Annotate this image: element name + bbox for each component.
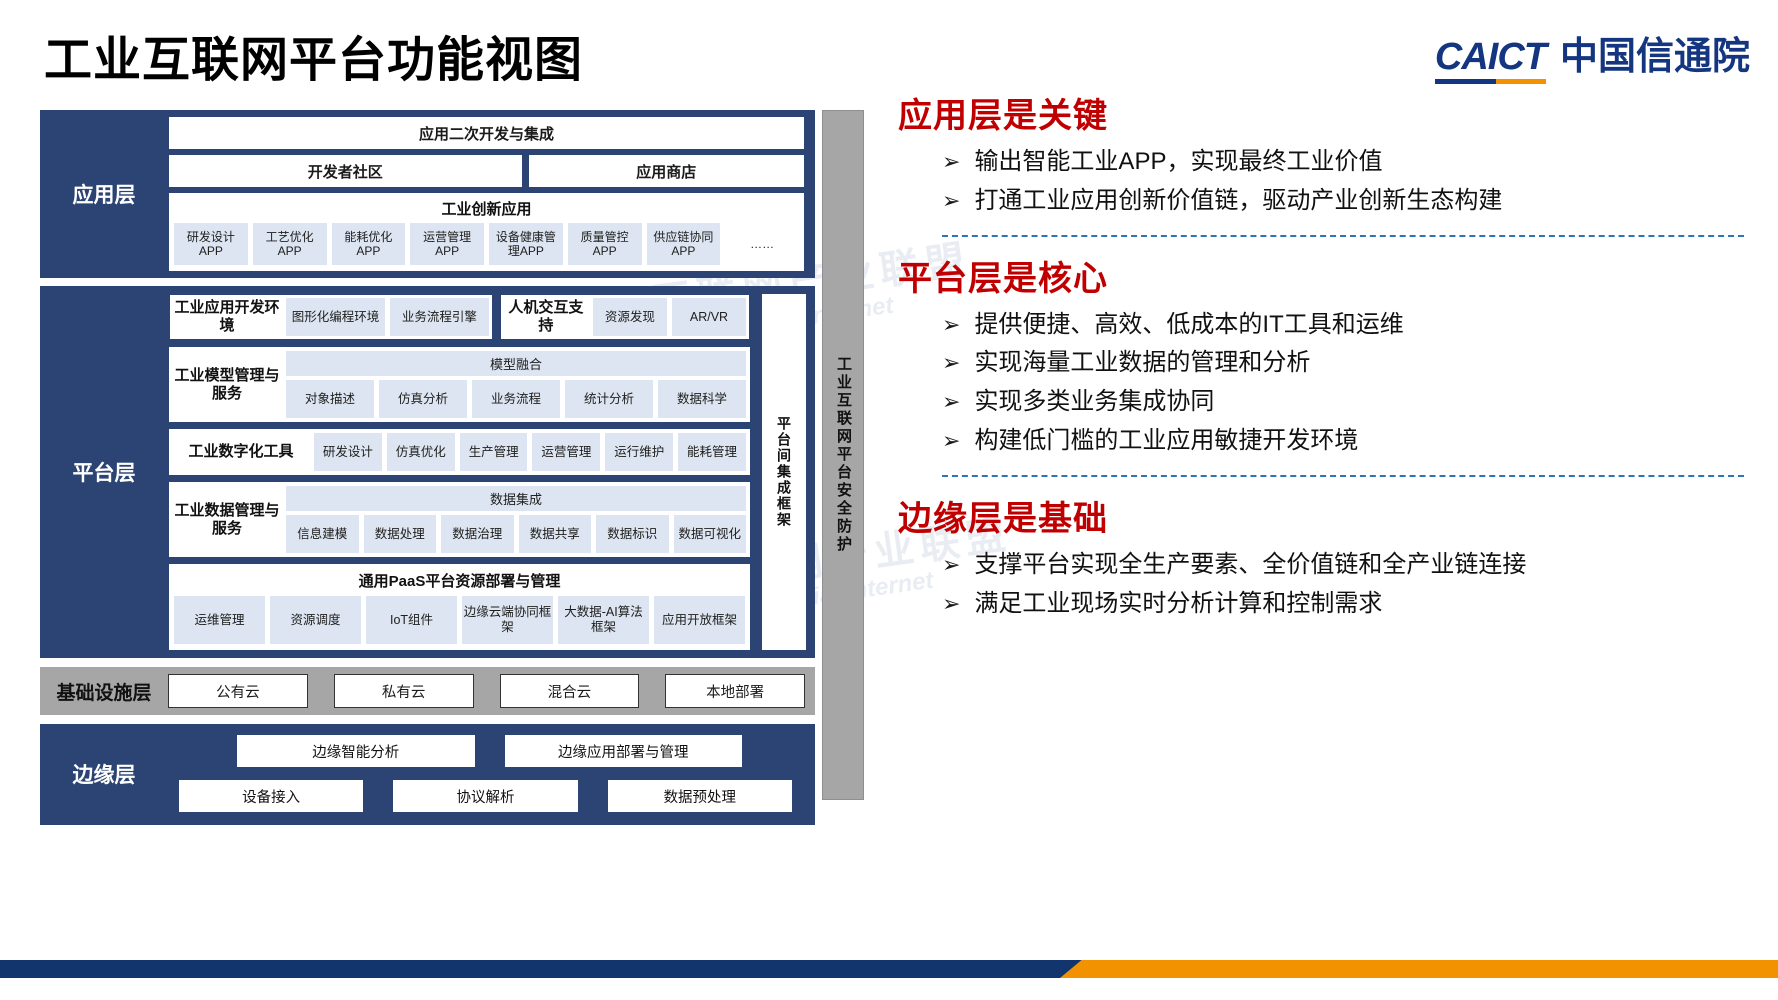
platform-row-data-management: 工业数据管理与服务 数据集成 信息建模 数据处理 数据治理 数据共享 数据标识 … bbox=[168, 481, 751, 558]
bullet-item: ➢ 打通工业应用创新价值链，驱动产业创新生态构建 bbox=[896, 184, 1744, 219]
bullet-list-application: ➢ 输出智能工业APP，实现最终工业价值 ➢ 打通工业应用创新价值链，驱动产业创… bbox=[896, 145, 1744, 219]
platform-cell[interactable]: 业务流程 bbox=[472, 380, 560, 418]
bullet-arrow-icon: ➢ bbox=[942, 424, 960, 457]
platform-cell[interactable]: 运行维护 bbox=[605, 433, 673, 471]
application-layer: 应用层 应用二次开发与集成 开发者社区 应用商店 工业创新应用 研发设计APP … bbox=[40, 110, 815, 278]
platform-cell[interactable]: AR/VR bbox=[672, 298, 746, 336]
app-secondary-dev-box[interactable]: 应用二次开发与集成 bbox=[168, 116, 805, 150]
page-title: 工业互联网平台功能视图 bbox=[44, 20, 583, 90]
application-layer-label: 应用层 bbox=[40, 110, 168, 278]
section-title-platform: 平台层是核心 bbox=[898, 251, 1744, 300]
caict-logo-mark: CAICT bbox=[1435, 38, 1546, 84]
paas-cell[interactable]: 运维管理 bbox=[174, 596, 265, 644]
platform-cell[interactable]: 业务流程引擎 bbox=[390, 298, 489, 336]
bullet-item: ➢ 实现海量工业数据的管理和分析 bbox=[896, 346, 1744, 381]
paas-box: 通用PaaS平台资源部署与管理 运维管理 资源调度 IoT组件 边缘云端协同框架… bbox=[168, 563, 751, 651]
app-tile[interactable]: 研发设计APP bbox=[174, 223, 248, 265]
infrastructure-cell[interactable]: 本地部署 bbox=[665, 674, 805, 708]
bullet-arrow-icon: ➢ bbox=[942, 145, 960, 178]
platform-row-model-management: 工业模型管理与服务 模型融合 对象描述 仿真分析 业务流程 统计分析 数据科学 bbox=[168, 346, 751, 423]
infrastructure-layer-label: 基础设施层 bbox=[40, 678, 168, 705]
footer-white-strip bbox=[0, 978, 1778, 1000]
bullet-text: 构建低门槛的工业应用敏捷开发环境 bbox=[974, 424, 1744, 459]
platform-cell[interactable]: 信息建模 bbox=[286, 515, 359, 553]
edge-cell[interactable]: 数据预处理 bbox=[607, 779, 793, 813]
platform-cell[interactable]: 仿真优化 bbox=[387, 433, 455, 471]
model-management-title: 工业模型管理与服务 bbox=[173, 351, 281, 418]
hmi-support-title: 人机交互支持 bbox=[504, 298, 588, 336]
section-title-edge: 边缘层是基础 bbox=[898, 491, 1744, 540]
bullet-text: 支撑平台实现全生产要素、全价值链和全产业链连接 bbox=[974, 548, 1744, 583]
footer-bar-orange bbox=[1060, 960, 1778, 978]
model-fusion-head[interactable]: 模型融合 bbox=[286, 351, 746, 376]
bullet-text: 实现多类业务集成协同 bbox=[974, 385, 1744, 420]
bullet-arrow-icon: ➢ bbox=[942, 587, 960, 620]
bullet-item: ➢ 实现多类业务集成协同 bbox=[896, 385, 1744, 420]
bullet-arrow-icon: ➢ bbox=[942, 346, 960, 379]
paas-cell[interactable]: 边缘云端协同框架 bbox=[462, 596, 553, 644]
platform-cell[interactable]: 数据标识 bbox=[596, 515, 669, 553]
app-tile-ellipsis: …… bbox=[725, 223, 799, 265]
data-integration-head[interactable]: 数据集成 bbox=[286, 486, 746, 511]
platform-cell[interactable]: 研发设计 bbox=[314, 433, 382, 471]
section-divider bbox=[942, 475, 1744, 477]
platform-row-digital-tools: 工业数字化工具 研发设计 仿真优化 生产管理 运营管理 运行维护 能耗管理 bbox=[168, 428, 751, 476]
platform-row-dev-hmi: 工业应用开发环境 图形化编程环境 业务流程引擎 人机交互支持 资源发现 AR/V… bbox=[168, 293, 751, 341]
bullet-arrow-icon: ➢ bbox=[942, 548, 960, 581]
industrial-innovation-app-box: 工业创新应用 研发设计APP 工艺优化APP 能耗优化APP 运营管理APP 设… bbox=[168, 192, 805, 272]
platform-cell[interactable]: 图形化编程环境 bbox=[286, 298, 385, 336]
digital-tools-title: 工业数字化工具 bbox=[173, 433, 309, 471]
edge-cell[interactable]: 边缘应用部署与管理 bbox=[504, 734, 744, 768]
app-tile[interactable]: 质量管控APP bbox=[568, 223, 642, 265]
data-management-title: 工业数据管理与服务 bbox=[173, 486, 281, 553]
section-divider bbox=[942, 235, 1744, 237]
bullet-item: ➢ 支撑平台实现全生产要素、全价值链和全产业链连接 bbox=[896, 548, 1744, 583]
security-protection-bar: 工业互联网平台安全防护 bbox=[822, 110, 864, 800]
edge-layer-label: 边缘层 bbox=[40, 759, 168, 789]
platform-cell[interactable]: 数据治理 bbox=[441, 515, 514, 553]
platform-layer: 平台层 工业应用开发环境 图形化编程环境 业务流程引擎 人机交互支持 资源发现 … bbox=[40, 286, 815, 658]
bullet-text: 提供便捷、高效、低成本的IT工具和运维 bbox=[974, 308, 1744, 343]
platform-cell[interactable]: 运营管理 bbox=[532, 433, 600, 471]
paas-cell[interactable]: 资源调度 bbox=[270, 596, 361, 644]
edge-cell[interactable]: 边缘智能分析 bbox=[236, 734, 476, 768]
bullet-item: ➢ 构建低门槛的工业应用敏捷开发环境 bbox=[896, 424, 1744, 459]
bullet-arrow-icon: ➢ bbox=[942, 308, 960, 341]
caict-logo-name: 中国信通院 bbox=[1560, 38, 1750, 84]
bullet-item: ➢ 提供便捷、高效、低成本的IT工具和运维 bbox=[896, 308, 1744, 343]
app-tile[interactable]: 供应链协同APP bbox=[647, 223, 721, 265]
inter-platform-integration-framework-label: 平台间集成框架 bbox=[761, 293, 807, 651]
edge-cell[interactable]: 设备接入 bbox=[178, 779, 364, 813]
industrial-innovation-app-title: 工业创新应用 bbox=[174, 198, 799, 219]
platform-cell[interactable]: 生产管理 bbox=[460, 433, 528, 471]
caict-logo: CAICT 中国信通院 bbox=[1435, 38, 1750, 84]
platform-cell[interactable]: 统计分析 bbox=[565, 380, 653, 418]
bullet-text: 输出智能工业APP，实现最终工业价值 bbox=[974, 145, 1744, 180]
bullet-text: 实现海量工业数据的管理和分析 bbox=[974, 346, 1744, 381]
platform-cell[interactable]: 对象描述 bbox=[286, 380, 374, 418]
bullet-item: ➢ 输出智能工业APP，实现最终工业价值 bbox=[896, 145, 1744, 180]
bullet-text: 打通工业应用创新价值链，驱动产业创新生态构建 bbox=[974, 184, 1744, 219]
paas-cell[interactable]: 应用开放框架 bbox=[654, 596, 745, 644]
platform-function-diagram: 应用层 应用二次开发与集成 开发者社区 应用商店 工业创新应用 研发设计APP … bbox=[40, 110, 815, 825]
platform-cell[interactable]: 数据共享 bbox=[519, 515, 592, 553]
section-title-application: 应用层是关键 bbox=[898, 88, 1744, 137]
platform-layer-label: 平台层 bbox=[40, 286, 168, 658]
footer-bar-blue bbox=[0, 960, 1100, 978]
app-tile[interactable]: 工艺优化APP bbox=[253, 223, 327, 265]
bullet-list-edge: ➢ 支撑平台实现全生产要素、全价值链和全产业链连接 ➢ 满足工业现场实时分析计算… bbox=[896, 548, 1744, 622]
paas-cell[interactable]: IoT组件 bbox=[366, 596, 457, 644]
platform-cell[interactable]: 数据处理 bbox=[364, 515, 437, 553]
app-tile[interactable]: 运营管理APP bbox=[410, 223, 484, 265]
app-tile[interactable]: 设备健康管理APP bbox=[489, 223, 563, 265]
platform-cell[interactable]: 能耗管理 bbox=[678, 433, 746, 471]
platform-cell[interactable]: 数据可视化 bbox=[674, 515, 747, 553]
explanation-panel: 应用层是关键 ➢ 输出智能工业APP，实现最终工业价值 ➢ 打通工业应用创新价值… bbox=[896, 88, 1744, 627]
bullet-item: ➢ 满足工业现场实时分析计算和控制需求 bbox=[896, 587, 1744, 622]
infrastructure-cell[interactable]: 公有云 bbox=[168, 674, 308, 708]
paas-cell[interactable]: 大数据-AI算法框架 bbox=[558, 596, 649, 644]
paas-title: 通用PaaS平台资源部署与管理 bbox=[174, 570, 745, 591]
bullet-arrow-icon: ➢ bbox=[942, 385, 960, 418]
infrastructure-cell[interactable]: 私有云 bbox=[334, 674, 474, 708]
infrastructure-cell[interactable]: 混合云 bbox=[500, 674, 640, 708]
edge-cell[interactable]: 协议解析 bbox=[392, 779, 578, 813]
platform-cell[interactable]: 资源发现 bbox=[593, 298, 667, 336]
bullet-arrow-icon: ➢ bbox=[942, 184, 960, 217]
infrastructure-layer: 基础设施层 公有云 私有云 混合云 本地部署 bbox=[40, 667, 815, 715]
app-store-box[interactable]: 应用商店 bbox=[528, 154, 805, 188]
app-tile[interactable]: 能耗优化APP bbox=[332, 223, 406, 265]
bullet-list-platform: ➢ 提供便捷、高效、低成本的IT工具和运维 ➢ 实现海量工业数据的管理和分析 ➢… bbox=[896, 308, 1744, 459]
edge-layer: 边缘层 边缘智能分析 边缘应用部署与管理 设备接入 协议解析 数据预处理 bbox=[40, 724, 815, 825]
industrial-app-dev-env-title: 工业应用开发环境 bbox=[173, 298, 281, 336]
developer-community-box[interactable]: 开发者社区 bbox=[168, 154, 523, 188]
footer-accent-bar bbox=[0, 960, 1778, 978]
platform-cell[interactable]: 仿真分析 bbox=[379, 380, 467, 418]
platform-cell[interactable]: 数据科学 bbox=[658, 380, 746, 418]
bullet-text: 满足工业现场实时分析计算和控制需求 bbox=[974, 587, 1744, 622]
